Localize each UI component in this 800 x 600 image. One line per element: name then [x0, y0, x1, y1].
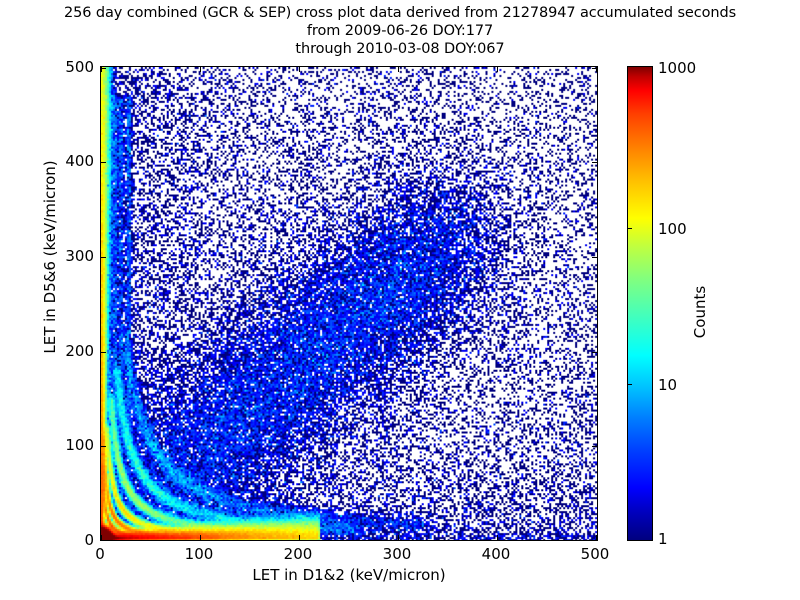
- ytick-200: [101, 352, 106, 353]
- cbticklabel-100: 100: [658, 220, 687, 238]
- ytick-right-200: [592, 352, 597, 353]
- xticklabel-300: 300: [383, 545, 412, 563]
- cbtick-100: [627, 228, 632, 229]
- yticklabel-100: 100: [65, 436, 94, 454]
- chart-title: 256 day combined (GCR & SEP) cross plot …: [0, 4, 800, 58]
- xtick-500: [596, 535, 597, 540]
- title-line-2: from 2009-06-26 DOY:177: [0, 22, 800, 40]
- ytick-right-400: [592, 162, 597, 163]
- xticklabel-100: 100: [185, 545, 214, 563]
- y-axis-label: LET in D5&6 (keV/micron): [41, 107, 59, 407]
- xticklabel-0: 0: [95, 545, 105, 563]
- colorbar-label: Counts: [691, 212, 709, 412]
- xtick-0: [101, 535, 102, 540]
- xtick-top-300: [398, 67, 399, 72]
- cbticklabel-10: 10: [658, 376, 677, 394]
- yticklabel-400: 400: [65, 152, 94, 170]
- xtick-200: [299, 535, 300, 540]
- title-line-3: through 2010-03-08 DOY:067: [0, 40, 800, 58]
- yticklabel-0: 0: [84, 531, 94, 549]
- cbticklabel-1000: 1000: [658, 59, 696, 77]
- xtick-300: [398, 535, 399, 540]
- xticklabel-500: 500: [581, 545, 610, 563]
- xticklabel-400: 400: [482, 545, 511, 563]
- ytick-500: [101, 68, 106, 69]
- yticklabel-200: 200: [65, 342, 94, 360]
- ytick-right-300: [592, 257, 597, 258]
- cbtick-1: [627, 540, 632, 541]
- xtick-400: [497, 535, 498, 540]
- xticklabel-200: 200: [284, 545, 313, 563]
- figure-canvas: 256 day combined (GCR & SEP) cross plot …: [0, 0, 800, 600]
- ytick-100: [101, 446, 106, 447]
- x-axis-label: LET in D1&2 (keV/micron): [100, 566, 598, 584]
- ytick-400: [101, 162, 106, 163]
- ytick-right-500: [592, 68, 597, 69]
- cbticklabel-1: 1: [658, 530, 668, 548]
- xtick-top-100: [200, 67, 201, 72]
- ytick-300: [101, 257, 106, 258]
- ytick-right-100: [592, 446, 597, 447]
- colorbar: [627, 66, 653, 541]
- yticklabel-500: 500: [65, 58, 94, 76]
- title-line-1: 256 day combined (GCR & SEP) cross plot …: [0, 4, 800, 22]
- cbtick-10: [627, 384, 632, 385]
- cbtick-1000: [627, 66, 632, 67]
- xtick-top-200: [299, 67, 300, 72]
- heatmap-canvas: [101, 67, 597, 540]
- xtick-top-400: [497, 67, 498, 72]
- plot-area: [100, 66, 598, 541]
- yticklabel-300: 300: [65, 247, 94, 265]
- xtick-100: [200, 535, 201, 540]
